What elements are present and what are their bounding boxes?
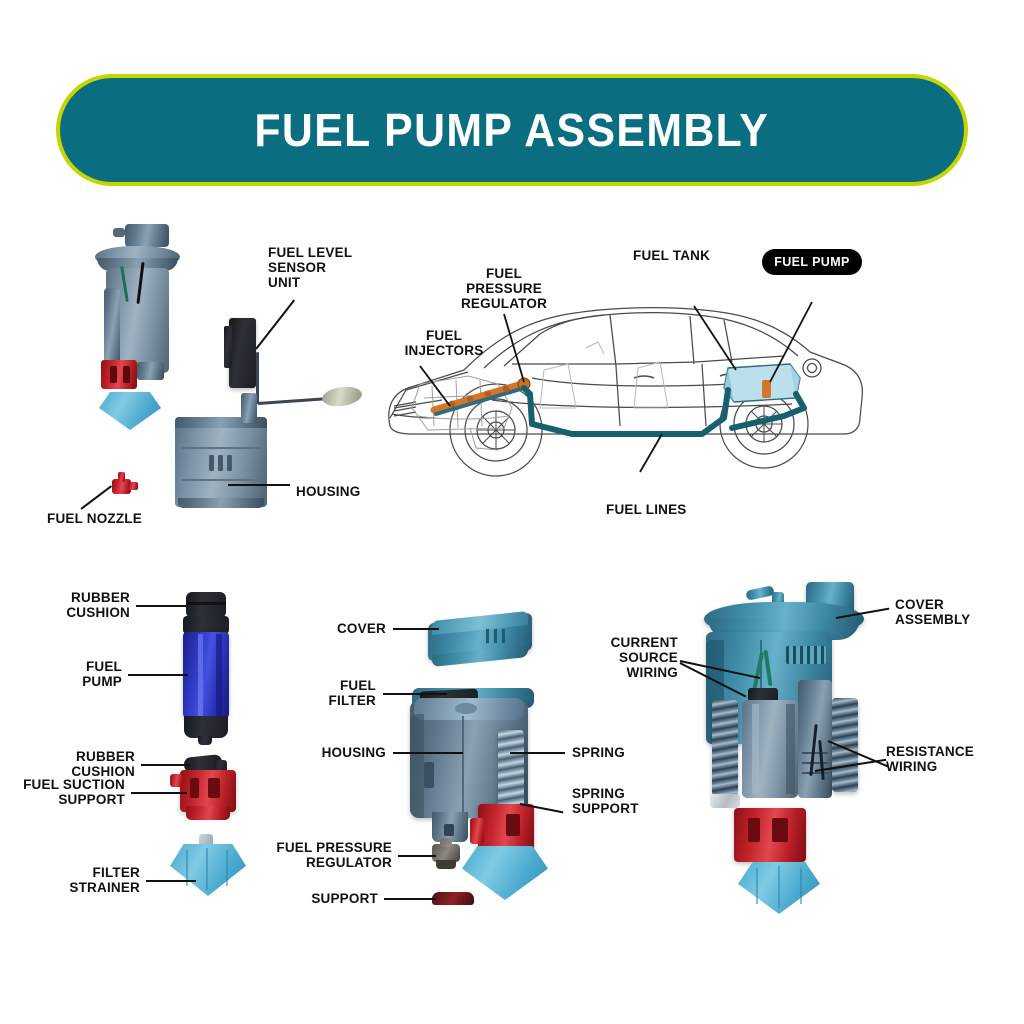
support-bracket-window [506,814,520,836]
fuel-pump-barrel-highlight [198,634,203,716]
leader-support [384,898,436,900]
fuel-pressure-regulator-base [436,860,456,869]
label-rubber-cushion-top: RUBBER CUSHION [0,590,130,620]
fuel-suction-window-a [190,778,199,798]
inner-column-rib-a [802,752,828,754]
leader-spring [510,752,565,754]
support-red-br [734,808,806,862]
leader-fuel-nozzle [80,485,111,509]
label-support: SUPPORT [268,891,378,906]
leader-fuel-level-sensor [255,299,295,349]
module-connector-slot-b [123,366,130,383]
fuel-rail-injectors [434,378,530,414]
label-current-source-wiring: CURRENT SOURCE WIRING [550,635,678,680]
fuel-pump-badge: FUEL PUMP [762,249,862,275]
fuel-suction-support-nub [170,774,183,787]
housing-lower-spout-hole [444,824,454,836]
fuel-line-path [524,388,728,434]
leader-fuel-suction-support [131,792,187,794]
label-fuel-nozzle: FUEL NOZZLE [47,511,142,526]
housing-vent-b [218,455,223,471]
support-bracket-arm [470,818,484,844]
housing-base [178,498,264,508]
module-filter-strainer [99,392,161,430]
label-fuel-pressure-regulator-bm: FUEL PRESSURE REGULATOR [258,840,392,870]
fuel-pump-lower-cap [184,716,228,738]
spring-part [498,730,524,814]
fuel-pressure-regulator-tip [440,838,452,847]
cover-fin-b [494,629,497,643]
reservoir-vent-slots [786,646,826,664]
label-housing-top-left: HOUSING [296,484,360,499]
module-connector-red [101,360,137,389]
label-spring: SPRING [572,745,625,760]
label-fuel-injectors: FUEL INJECTORS [396,328,492,358]
leader-cover [393,628,439,630]
rubber-cushion-top-part [186,592,226,618]
label-fuel-pump-bottom-left: FUEL PUMP [0,659,122,689]
housing-rib-b [182,479,260,481]
label-fuel-level-sensor-unit: FUEL LEVEL SENSOR UNIT [268,245,352,290]
strainer-br-ridge-b [778,866,780,908]
housing-vertical-seam [462,716,464,814]
spring-left-collar [710,794,740,808]
leader-filter-strainer [146,880,196,882]
module-top-nipple [113,228,125,237]
fuel-pump-barrel [183,632,229,718]
label-cover-assembly: COVER ASSEMBLY [895,597,970,627]
page-title: FUEL PUMP ASSEMBLY [255,103,770,157]
label-fuel-suction-support: FUEL SUCTION SUPPORT [0,777,125,807]
fuel-pump-badge-label: FUEL PUMP [774,255,850,269]
leader-fuel-injectors [420,366,450,406]
fuel-pump-barrel-shade [216,634,222,716]
fuel-pump-outlet [198,736,212,745]
pump-barrel-shade-br [786,704,795,794]
housing-left-shade [410,714,424,818]
label-spring-support: SPRING SUPPORT [572,786,639,816]
fuel-nozzle-stem [118,472,125,482]
housing-riser [241,393,257,423]
filter-strainer-part [170,844,246,896]
cover-fin-a [486,629,489,643]
module-top-cap [125,224,169,247]
support-red-window-a [748,818,760,842]
leader-housing-bm [393,752,463,754]
leader-fuel-pump-bl [128,674,188,676]
leader-fuel-filter [383,693,447,695]
float-arm-horizontal [258,397,324,404]
housing-top-port [455,703,477,714]
pump-barrel-highlight-br [752,704,759,794]
strainer-ridge-b [206,848,208,890]
label-fuel-pressure-regulator-car: FUEL PRESSURE REGULATOR [444,266,564,311]
fuel-suction-support-foot [186,806,230,820]
module-lower-stub [137,362,164,380]
label-fuel-tank: FUEL TANK [633,248,710,263]
label-rubber-cushion-bottom: RUBBER CUSHION [0,749,135,779]
label-housing-bottom-middle: HOUSING [268,745,386,760]
fuel-level-sensor-body [229,318,256,388]
leader-fuel-lines [640,434,662,472]
label-fuel-lines: FUEL LINES [606,502,687,517]
housing-vent-c [227,455,232,471]
housing-notch [424,762,434,788]
header-banner: FUEL PUMP ASSEMBLY [56,74,968,186]
leader-rubber-cushion-bottom [141,764,190,766]
module-connector-slot-a [110,366,117,383]
label-fuel-filter: FUEL FILTER [268,678,376,708]
leader-fuel-pressure-regulator [504,314,524,382]
leader-housing [228,484,290,486]
float-ball [321,384,363,408]
label-cover: COVER [268,621,386,636]
support-part [432,892,474,905]
cover-assembly-nipple [745,585,774,601]
support-red-window-b [772,818,788,842]
housing-rib-a [182,447,260,449]
label-filter-strainer: FILTER STRAINER [0,865,140,895]
housing-vent-a [209,455,214,471]
cover-fin-c [502,629,505,643]
spring-left-br [712,700,738,796]
label-resistance-wiring: RESISTANCE WIRING [886,744,974,774]
rubber-cushion-top-groove [186,602,226,605]
leader-fuel-pressure-regulator-bm [398,855,436,857]
strainer-ridge-c [226,850,228,886]
fuel-nozzle-tip [128,482,138,490]
inner-column-rib-b [802,762,828,764]
strainer-br-ridge-a [756,868,758,904]
fuel-suction-window-b [208,778,220,798]
fuel-level-sensor-tab [224,326,232,368]
strainer-br-ridge-c [800,868,802,904]
leader-rubber-cushion-top [136,605,188,607]
strainer-part-bm [462,846,548,900]
